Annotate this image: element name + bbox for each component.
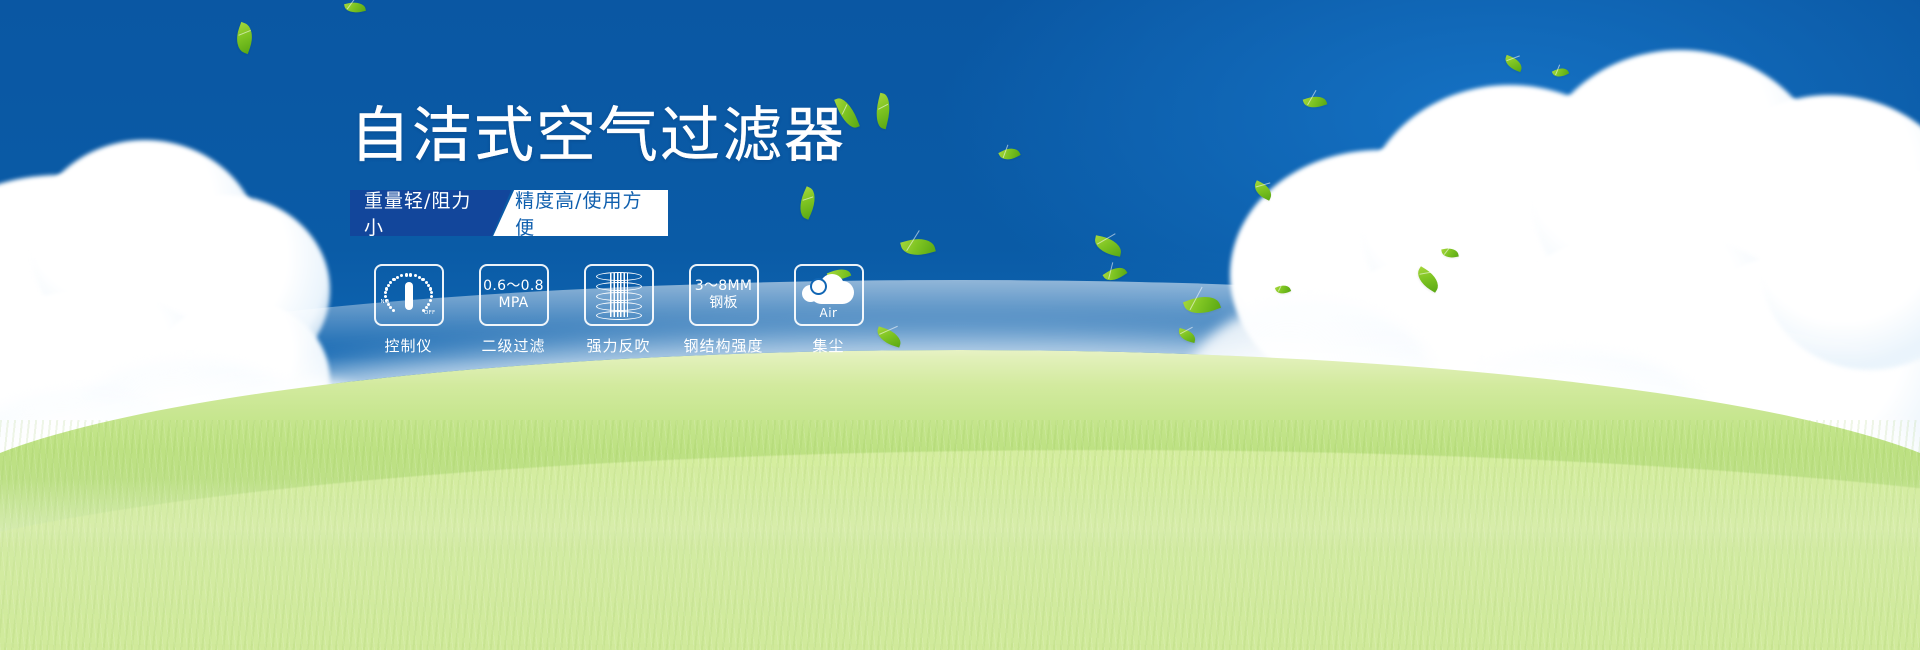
coil-ring [596,272,642,281]
feature-box [584,264,654,326]
gauge-dot [387,284,390,287]
feature-box: 3～8MM 钢板 [689,264,759,326]
gauge-dot [389,281,392,284]
air-cloud-icon: Air [800,271,858,319]
page-title: 自洁式空气过滤器 [350,105,970,168]
steel-icon: 3～8MM 钢板 [695,278,752,311]
gauge-dot [392,309,395,312]
gauge-dot [421,278,424,281]
feature-item-controller: NO OFF 控制仪 [356,264,461,356]
cloud-body [812,280,825,293]
gauge-dot [418,276,421,279]
feature-box: Air [794,264,864,326]
feature-label: 控制仪 [356,335,461,356]
gauge-dot [409,273,412,276]
feature-label: 集尘 [776,335,881,356]
feature-item-backflush: 强力反吹 [566,264,671,356]
gauge-dot [429,287,432,290]
coil-ring [596,282,642,291]
feature-item-dust: Air 集尘 [776,264,881,356]
gauge-dot [385,287,388,290]
gauge-dot [429,299,432,302]
gauge-label-no: NO [381,299,390,305]
feature-box: NO OFF [374,264,444,326]
gauge-needle [405,282,413,310]
gauge-label-off: OFF [424,310,436,316]
gauge-dot [396,276,399,279]
gauge-dot [400,274,403,277]
hero-banner: 自洁式空气过滤器 重量轻/阻力小 精度高/使用方便 NO OFF 控制仪 [0,0,1920,650]
feature-label: 强力反吹 [566,335,671,356]
feature-list: NO OFF 控制仪 0.6～0.8 MPA 二级过滤 [356,264,970,356]
coil-ring [596,311,642,320]
pressure-icon: 0.6～0.8 MPA [483,278,544,311]
banner-content: 自洁式空气过滤器 重量轻/阻力小 精度高/使用方便 NO OFF 控制仪 [350,105,970,356]
gauge-dot [384,295,387,298]
feature-box: 0.6～0.8 MPA [479,264,549,326]
gauge-dot [414,274,417,277]
coil-ring [596,302,642,311]
tag-secondary: 精度高/使用方便 [493,190,668,236]
gauge-dot [425,306,428,309]
gauge-dot [392,278,395,281]
coil-ring [596,292,642,301]
air-label: Air [800,306,858,320]
gauge-dot [405,273,408,276]
gauge-dot [430,291,433,294]
tag-group: 重量轻/阻力小 精度高/使用方便 [350,190,668,236]
gauge-dot [427,303,430,306]
tag-primary: 重量轻/阻力小 [350,190,511,236]
feature-item-pressure: 0.6～0.8 MPA 二级过滤 [461,264,566,356]
feature-label: 二级过滤 [461,335,566,356]
gauge-dot [384,291,387,294]
feature-label: 钢结构强度 [671,335,776,356]
gauge-icon: NO OFF [381,271,437,319]
coil-icon [596,271,642,319]
feature-item-steel: 3～8MM 钢板 钢结构强度 [671,264,776,356]
gauge-dot [430,295,433,298]
